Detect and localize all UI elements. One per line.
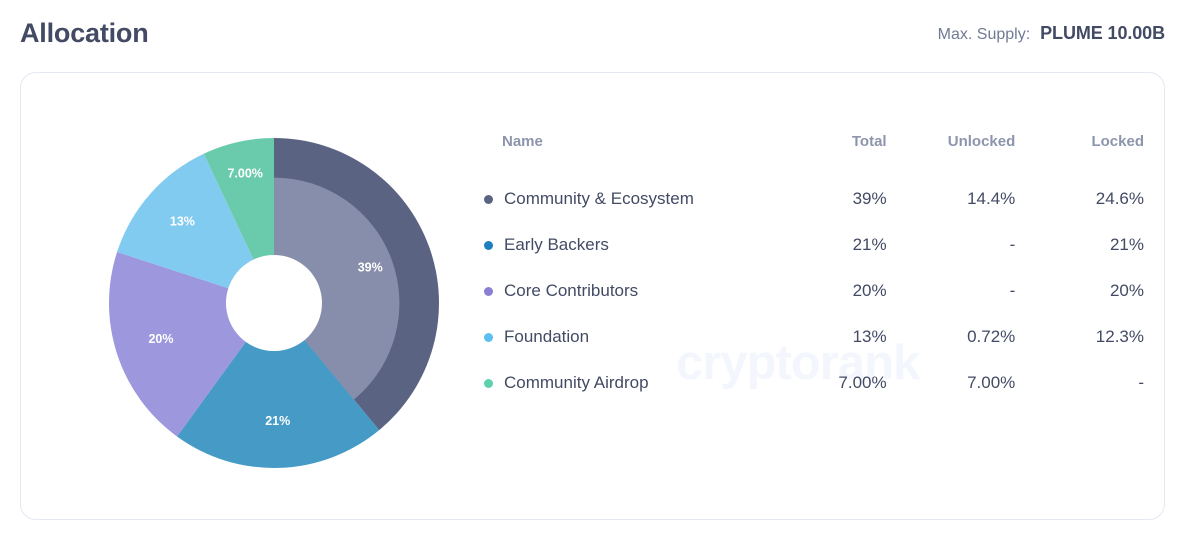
cell-unlocked: - xyxy=(887,222,1016,268)
cell-unlocked: 0.72% xyxy=(887,314,1016,360)
donut-slice-label: 21% xyxy=(265,414,290,428)
table-row[interactable]: Foundation13%0.72%12.3% xyxy=(484,314,1144,360)
donut-slice-label: 13% xyxy=(170,215,195,229)
table-row[interactable]: Core Contributors20%-20% xyxy=(484,268,1144,314)
donut-center-hole xyxy=(226,255,322,351)
name-cell-inner: Early Backers xyxy=(484,235,774,255)
cell-name: Foundation xyxy=(484,314,774,360)
cell-locked: - xyxy=(1015,360,1144,406)
allocation-donut-chart: 39%21%20%13%7.00% xyxy=(89,133,459,473)
name-cell-inner: Community & Ecosystem xyxy=(484,189,774,209)
cell-locked: 21% xyxy=(1015,222,1144,268)
legend-dot-icon xyxy=(484,333,493,342)
cell-total: 21% xyxy=(774,222,886,268)
cell-name: Core Contributors xyxy=(484,268,774,314)
table-row[interactable]: Community & Ecosystem39%14.4%24.6% xyxy=(484,176,1144,222)
cell-unlocked: - xyxy=(887,268,1016,314)
column-header-name[interactable]: Name xyxy=(484,133,774,176)
cell-total: 7.00% xyxy=(774,360,886,406)
column-header-total[interactable]: Total xyxy=(774,133,886,176)
allocation-name: Core Contributors xyxy=(504,281,638,301)
donut-chart-svg: 39%21%20%13%7.00% xyxy=(89,133,459,473)
page-title: Allocation xyxy=(20,20,149,47)
allocation-table-wrapper: Name Total Unlocked Locked Community & E… xyxy=(484,133,1144,406)
donut-slice-label: 39% xyxy=(358,261,383,275)
name-cell-inner: Foundation xyxy=(484,327,774,347)
cell-unlocked: 14.4% xyxy=(887,176,1016,222)
legend-dot-icon xyxy=(484,287,493,296)
allocation-name: Community Airdrop xyxy=(504,373,649,393)
max-supply-group: Max. Supply: PLUME 10.00B xyxy=(938,23,1167,44)
max-supply-value: PLUME 10.00B xyxy=(1040,23,1165,44)
column-header-locked[interactable]: Locked xyxy=(1015,133,1144,176)
page-header: Allocation Max. Supply: PLUME 10.00B xyxy=(20,10,1167,56)
table-body: Community & Ecosystem39%14.4%24.6%Early … xyxy=(484,176,1144,406)
donut-slice-label: 7.00% xyxy=(227,166,262,180)
donut-slice-label: 20% xyxy=(148,332,173,346)
allocation-name: Community & Ecosystem xyxy=(504,189,694,209)
cell-total: 39% xyxy=(774,176,886,222)
cell-locked: 24.6% xyxy=(1015,176,1144,222)
allocation-table: Name Total Unlocked Locked Community & E… xyxy=(484,133,1144,406)
table-row[interactable]: Early Backers21%-21% xyxy=(484,222,1144,268)
name-cell-inner: Core Contributors xyxy=(484,281,774,301)
legend-dot-icon xyxy=(484,195,493,204)
cell-name: Community Airdrop xyxy=(484,360,774,406)
table-header: Name Total Unlocked Locked xyxy=(484,133,1144,176)
allocation-card: cryptorank 39%21%20%13%7.00% Name Total xyxy=(20,72,1165,520)
table-row[interactable]: Community Airdrop7.00%7.00%- xyxy=(484,360,1144,406)
name-cell-inner: Community Airdrop xyxy=(484,373,774,393)
allocation-name: Early Backers xyxy=(504,235,609,255)
cell-locked: 12.3% xyxy=(1015,314,1144,360)
allocation-name: Foundation xyxy=(504,327,589,347)
table-header-row: Name Total Unlocked Locked xyxy=(484,133,1144,176)
column-header-unlocked[interactable]: Unlocked xyxy=(887,133,1016,176)
legend-dot-icon xyxy=(484,241,493,250)
legend-dot-icon xyxy=(484,379,493,388)
cell-name: Early Backers xyxy=(484,222,774,268)
cell-total: 13% xyxy=(774,314,886,360)
cell-name: Community & Ecosystem xyxy=(484,176,774,222)
cell-unlocked: 7.00% xyxy=(887,360,1016,406)
max-supply-label: Max. Supply: xyxy=(938,26,1030,44)
cell-locked: 20% xyxy=(1015,268,1144,314)
cell-total: 20% xyxy=(774,268,886,314)
